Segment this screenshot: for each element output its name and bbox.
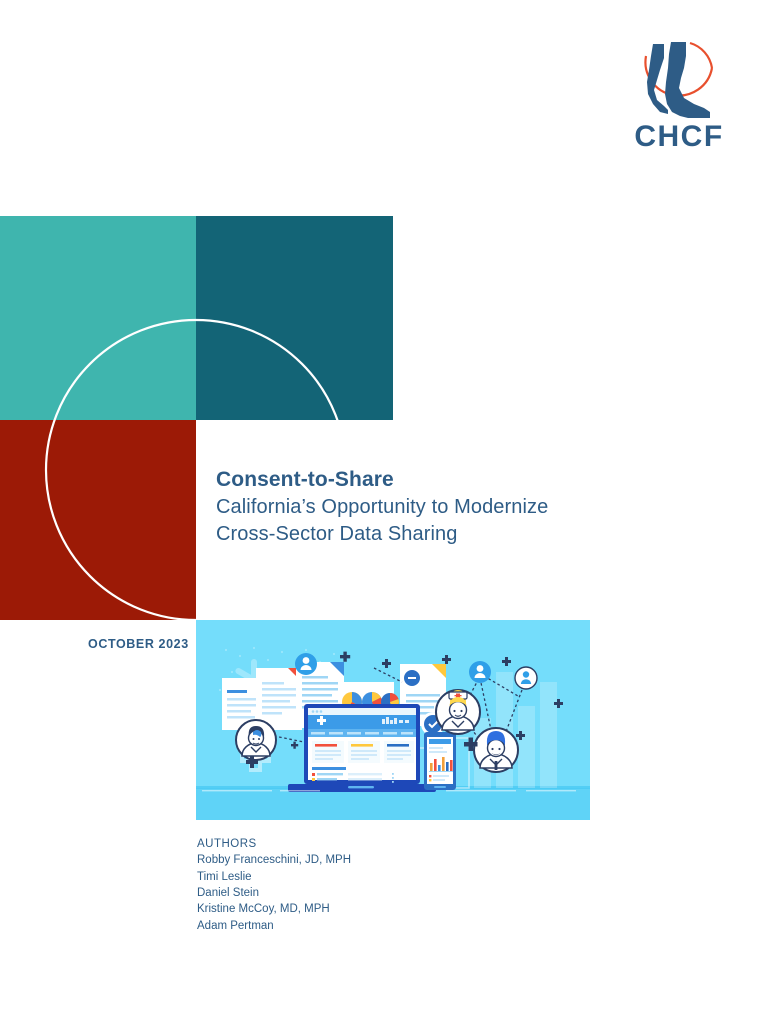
chcf-wordmark: CHCF	[624, 122, 734, 152]
color-block-red	[0, 420, 196, 620]
user-node-icon-2	[469, 661, 491, 683]
cover-illustration	[196, 620, 590, 820]
color-block-dark-teal	[196, 216, 393, 420]
author-name: Daniel Stein	[197, 885, 351, 901]
illustration-artwork	[196, 620, 590, 820]
page-subtitle-line2: Cross-Sector Data Sharing	[216, 521, 646, 548]
dashboard-cards	[312, 741, 414, 763]
doctor-avatar	[474, 728, 518, 772]
color-block-teal	[0, 216, 196, 420]
patient-avatar	[236, 720, 276, 760]
author-name: Robby Franceschini, JD, MPH	[197, 852, 351, 868]
laptop	[288, 704, 436, 792]
document-cover-page: CHCF Consent-to-Share California’s Oppor…	[0, 0, 770, 1024]
author-name: Kristine McCoy, MD, MPH	[197, 901, 351, 917]
page-title: Consent-to-Share	[216, 466, 646, 494]
title-block: Consent-to-Share California’s Opportunit…	[216, 466, 646, 548]
california-state-outline-icon	[624, 38, 734, 123]
authors-heading: AUTHORS	[197, 836, 351, 852]
authors-block: AUTHORS Robby Franceschini, JD, MPH Timi…	[197, 836, 351, 934]
chcf-logo: CHCF	[624, 38, 734, 163]
author-name: Adam Pertman	[197, 918, 351, 934]
user-node-icon-1	[295, 653, 317, 675]
tablet-device	[424, 732, 456, 790]
author-name: Timi Leslie	[197, 869, 351, 885]
publication-date: OCTOBER 2023	[88, 637, 189, 651]
page-subtitle-line1: California’s Opportunity to Modernize	[216, 494, 646, 521]
nurse-avatar	[436, 690, 480, 734]
user-node-icon-3	[515, 667, 537, 689]
